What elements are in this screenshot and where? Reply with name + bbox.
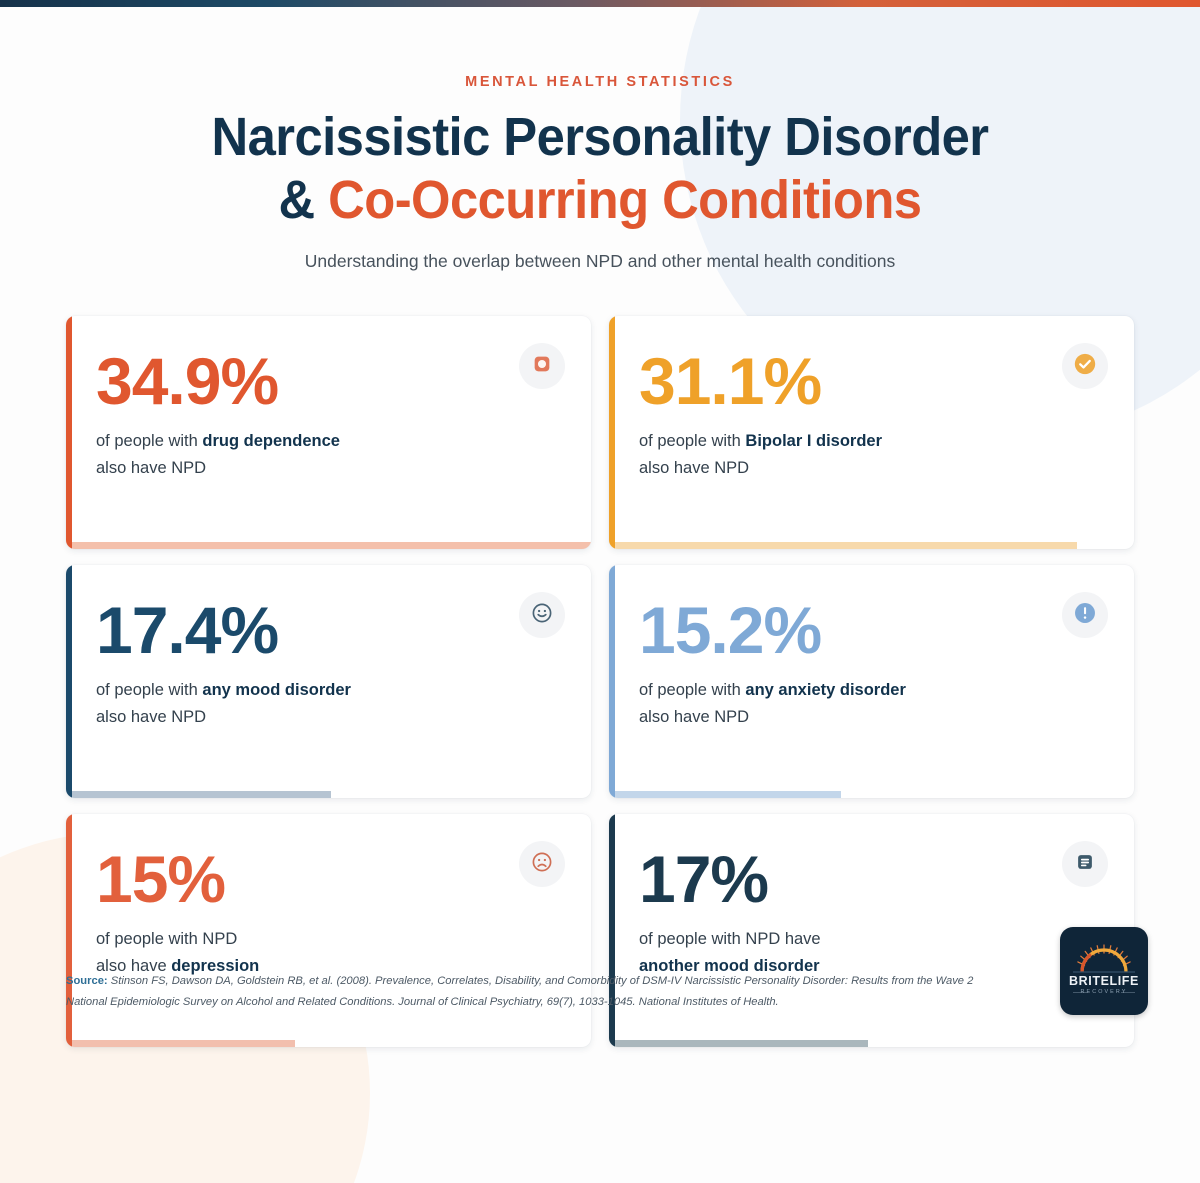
card-body: 17.4% of people with any mood disorder a… (66, 565, 591, 730)
icon-badge (1062, 592, 1108, 638)
desc-line1-bold: drug dependence (202, 432, 340, 450)
smiley-face-icon (530, 601, 554, 630)
title-line-2: & Co-Occurring Conditions (36, 173, 1164, 228)
stat-value: 15% (96, 846, 591, 912)
stat-description: of people with any mood disorder also ha… (96, 677, 496, 730)
check-circle-icon (1072, 351, 1098, 382)
card-body: 15.2% of people with any anxiety disorde… (609, 565, 1134, 730)
desc-line1-prefix: of people with (96, 432, 202, 450)
sad-face-icon (530, 850, 554, 879)
logo-wordmark: BRITELIFE (1060, 974, 1148, 988)
card-body: 34.9% of people with drug dependence als… (66, 316, 591, 481)
pill-icon (531, 353, 553, 380)
icon-badge (1062, 343, 1108, 389)
source-citation: Source: Stinson FS, Dawson DA, Goldstein… (66, 971, 1011, 1012)
progress-fill (72, 791, 331, 798)
title-accent-text: Co-Occurring Conditions (328, 170, 921, 230)
source-text: Stinson FS, Dawson DA, Goldstein RB, et … (66, 975, 973, 1008)
stat-card[interactable]: 15.2% of people with any anxiety disorde… (609, 565, 1134, 798)
stat-card[interactable]: 34.9% of people with drug dependence als… (66, 316, 591, 549)
icon-badge (519, 841, 565, 887)
stat-description: of people with Bipolar I disorder also h… (639, 428, 1039, 481)
desc-line2-prefix: also have NPD (96, 459, 206, 477)
stat-card[interactable]: 17.4% of people with any mood disorder a… (66, 565, 591, 798)
card-accent-bar (66, 565, 72, 798)
footer: Source: Stinson FS, Dawson DA, Goldstein… (0, 922, 1200, 1047)
document-lines-icon (1074, 851, 1096, 878)
stat-value: 17.4% (96, 597, 591, 663)
stat-card[interactable]: 31.1% of people with Bipolar I disorder … (609, 316, 1134, 549)
progress-track (615, 791, 1134, 798)
progress-fill (72, 542, 591, 549)
desc-line2-prefix: also have NPD (96, 708, 206, 726)
progress-fill (615, 542, 1077, 549)
desc-line2-prefix: also have NPD (639, 459, 749, 477)
progress-track (615, 542, 1134, 549)
page-subtitle: Understanding the overlap between NPD an… (0, 251, 1200, 272)
progress-fill (615, 791, 841, 798)
desc-line1-prefix: of people with (639, 432, 745, 450)
progress-track (72, 542, 591, 549)
header: MENTAL HEALTH STATISTICS Narcissistic Pe… (0, 0, 1200, 272)
stat-value: 34.9% (96, 348, 591, 414)
icon-badge (519, 592, 565, 638)
top-gradient-strip (0, 0, 1200, 7)
stat-description: of people with any anxiety disorder also… (639, 677, 1039, 730)
desc-line1-bold: Bipolar I disorder (745, 432, 882, 450)
title-ampersand: & (279, 170, 329, 230)
desc-line1-prefix: of people with (96, 681, 202, 699)
card-accent-bar (66, 316, 72, 549)
icon-badge (1062, 841, 1108, 887)
infographic-page: MENTAL HEALTH STATISTICS Narcissistic Pe… (0, 0, 1200, 1183)
eyebrow-label: MENTAL HEALTH STATISTICS (0, 74, 1200, 90)
desc-line1-bold: any mood disorder (202, 681, 351, 699)
stat-value: 17% (639, 846, 1134, 912)
desc-line1-bold: any anxiety disorder (745, 681, 905, 699)
stat-value: 15.2% (639, 597, 1134, 663)
desc-line1-prefix: of people with (639, 681, 745, 699)
stat-description: of people with drug dependence also have… (96, 428, 496, 481)
logo-tagline: RECOVERY (1060, 989, 1148, 995)
source-label: Source: (66, 975, 108, 987)
card-body: 31.1% of people with Bipolar I disorder … (609, 316, 1134, 481)
stat-value: 31.1% (639, 348, 1134, 414)
britelife-logo[interactable]: BRITELIFE RECOVERY (1060, 927, 1148, 1015)
card-accent-bar (609, 316, 615, 549)
page-title: Narcissistic Personality Disorder & Co-O… (36, 110, 1164, 228)
title-line-1: Narcissistic Personality Disorder (212, 107, 989, 167)
desc-line2-prefix: also have NPD (639, 708, 749, 726)
progress-track (72, 791, 591, 798)
icon-badge (519, 343, 565, 389)
card-accent-bar (609, 565, 615, 798)
alert-circle-icon (1072, 600, 1098, 631)
